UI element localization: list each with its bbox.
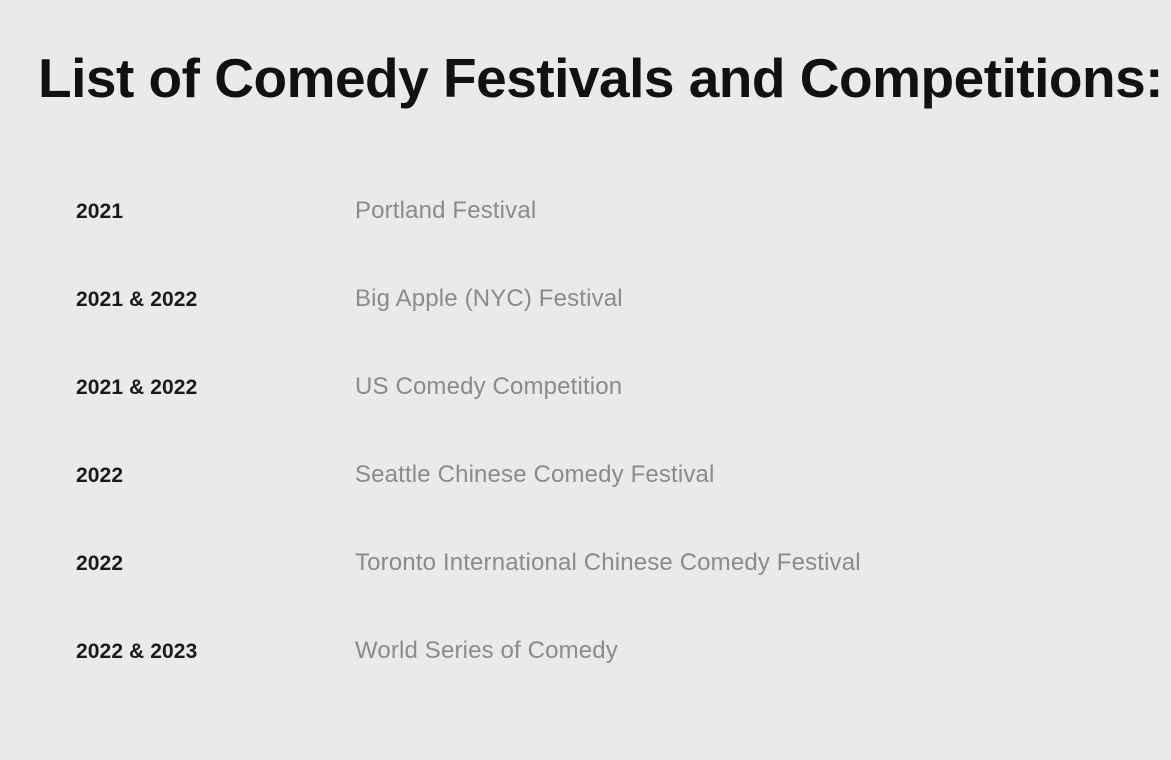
list-item: 2021 & 2022 US Comedy Competition [0, 372, 1171, 460]
festival-name: Seattle Chinese Comedy Festival [355, 460, 1171, 490]
festival-year: 2021 & 2022 [0, 285, 355, 315]
festival-name: Portland Festival [355, 196, 1171, 226]
festival-name: Big Apple (NYC) Festival [355, 284, 1171, 314]
festival-year: 2022 [0, 549, 355, 579]
slide-canvas: List of Comedy Festivals and Competition… [0, 0, 1171, 760]
festival-year: 2022 [0, 461, 355, 491]
festival-name: World Series of Comedy [355, 636, 1171, 666]
festival-name: US Comedy Competition [355, 372, 1171, 402]
list-item: 2021 Portland Festival [0, 196, 1171, 284]
list-item: 2022 & 2023 World Series of Comedy [0, 636, 1171, 731]
festival-name: Toronto International Chinese Comedy Fes… [355, 548, 1171, 578]
list-item: 2021 & 2022 Big Apple (NYC) Festival [0, 284, 1171, 372]
list-item: 2022 Seattle Chinese Comedy Festival [0, 460, 1171, 548]
festival-list: 2021 Portland Festival 2021 & 2022 Big A… [0, 196, 1171, 731]
festival-year: 2021 & 2022 [0, 373, 355, 403]
list-item: 2022 Toronto International Chinese Comed… [0, 548, 1171, 636]
festival-year: 2022 & 2023 [0, 637, 355, 667]
festival-year: 2021 [0, 197, 355, 227]
page-title: List of Comedy Festivals and Competition… [38, 48, 1163, 110]
